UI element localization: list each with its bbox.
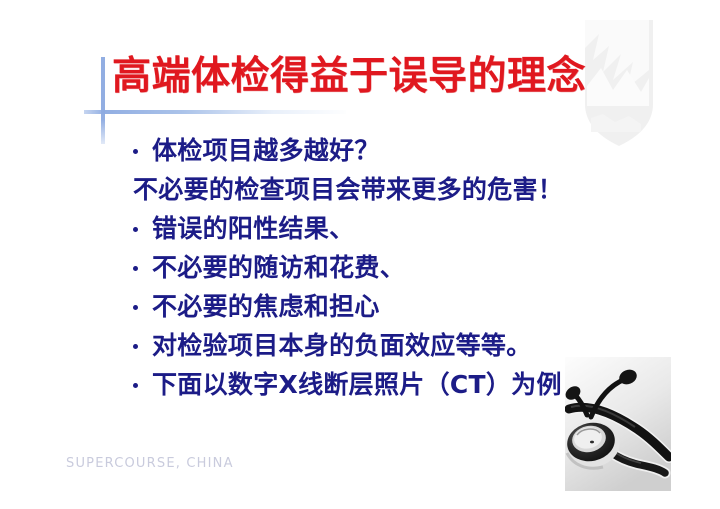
presentation-slide: 高端体检得益于误导的理念 体检项目越多越好？ 不必要的检查项目会带来更多的危害！…: [0, 0, 720, 509]
title-vertical-rule: [101, 57, 105, 144]
slide-title: 高端体检得益于误导的理念: [112, 55, 586, 99]
list-item: 错误的阳性结果、: [128, 209, 648, 248]
list-item: 不必要的检查项目会带来更多的危害！: [128, 170, 648, 209]
list-item: 不必要的焦虑和担心: [128, 287, 648, 326]
footer-label: SUPERCOURSE, CHINA: [66, 456, 234, 471]
list-item: 体检项目越多越好？: [128, 131, 648, 170]
stethoscope-photo: [565, 357, 671, 491]
shield-crest-watermark: [583, 18, 655, 148]
title-horizontal-rule: [84, 110, 346, 114]
list-item: 不必要的随访和花费、: [128, 248, 648, 287]
